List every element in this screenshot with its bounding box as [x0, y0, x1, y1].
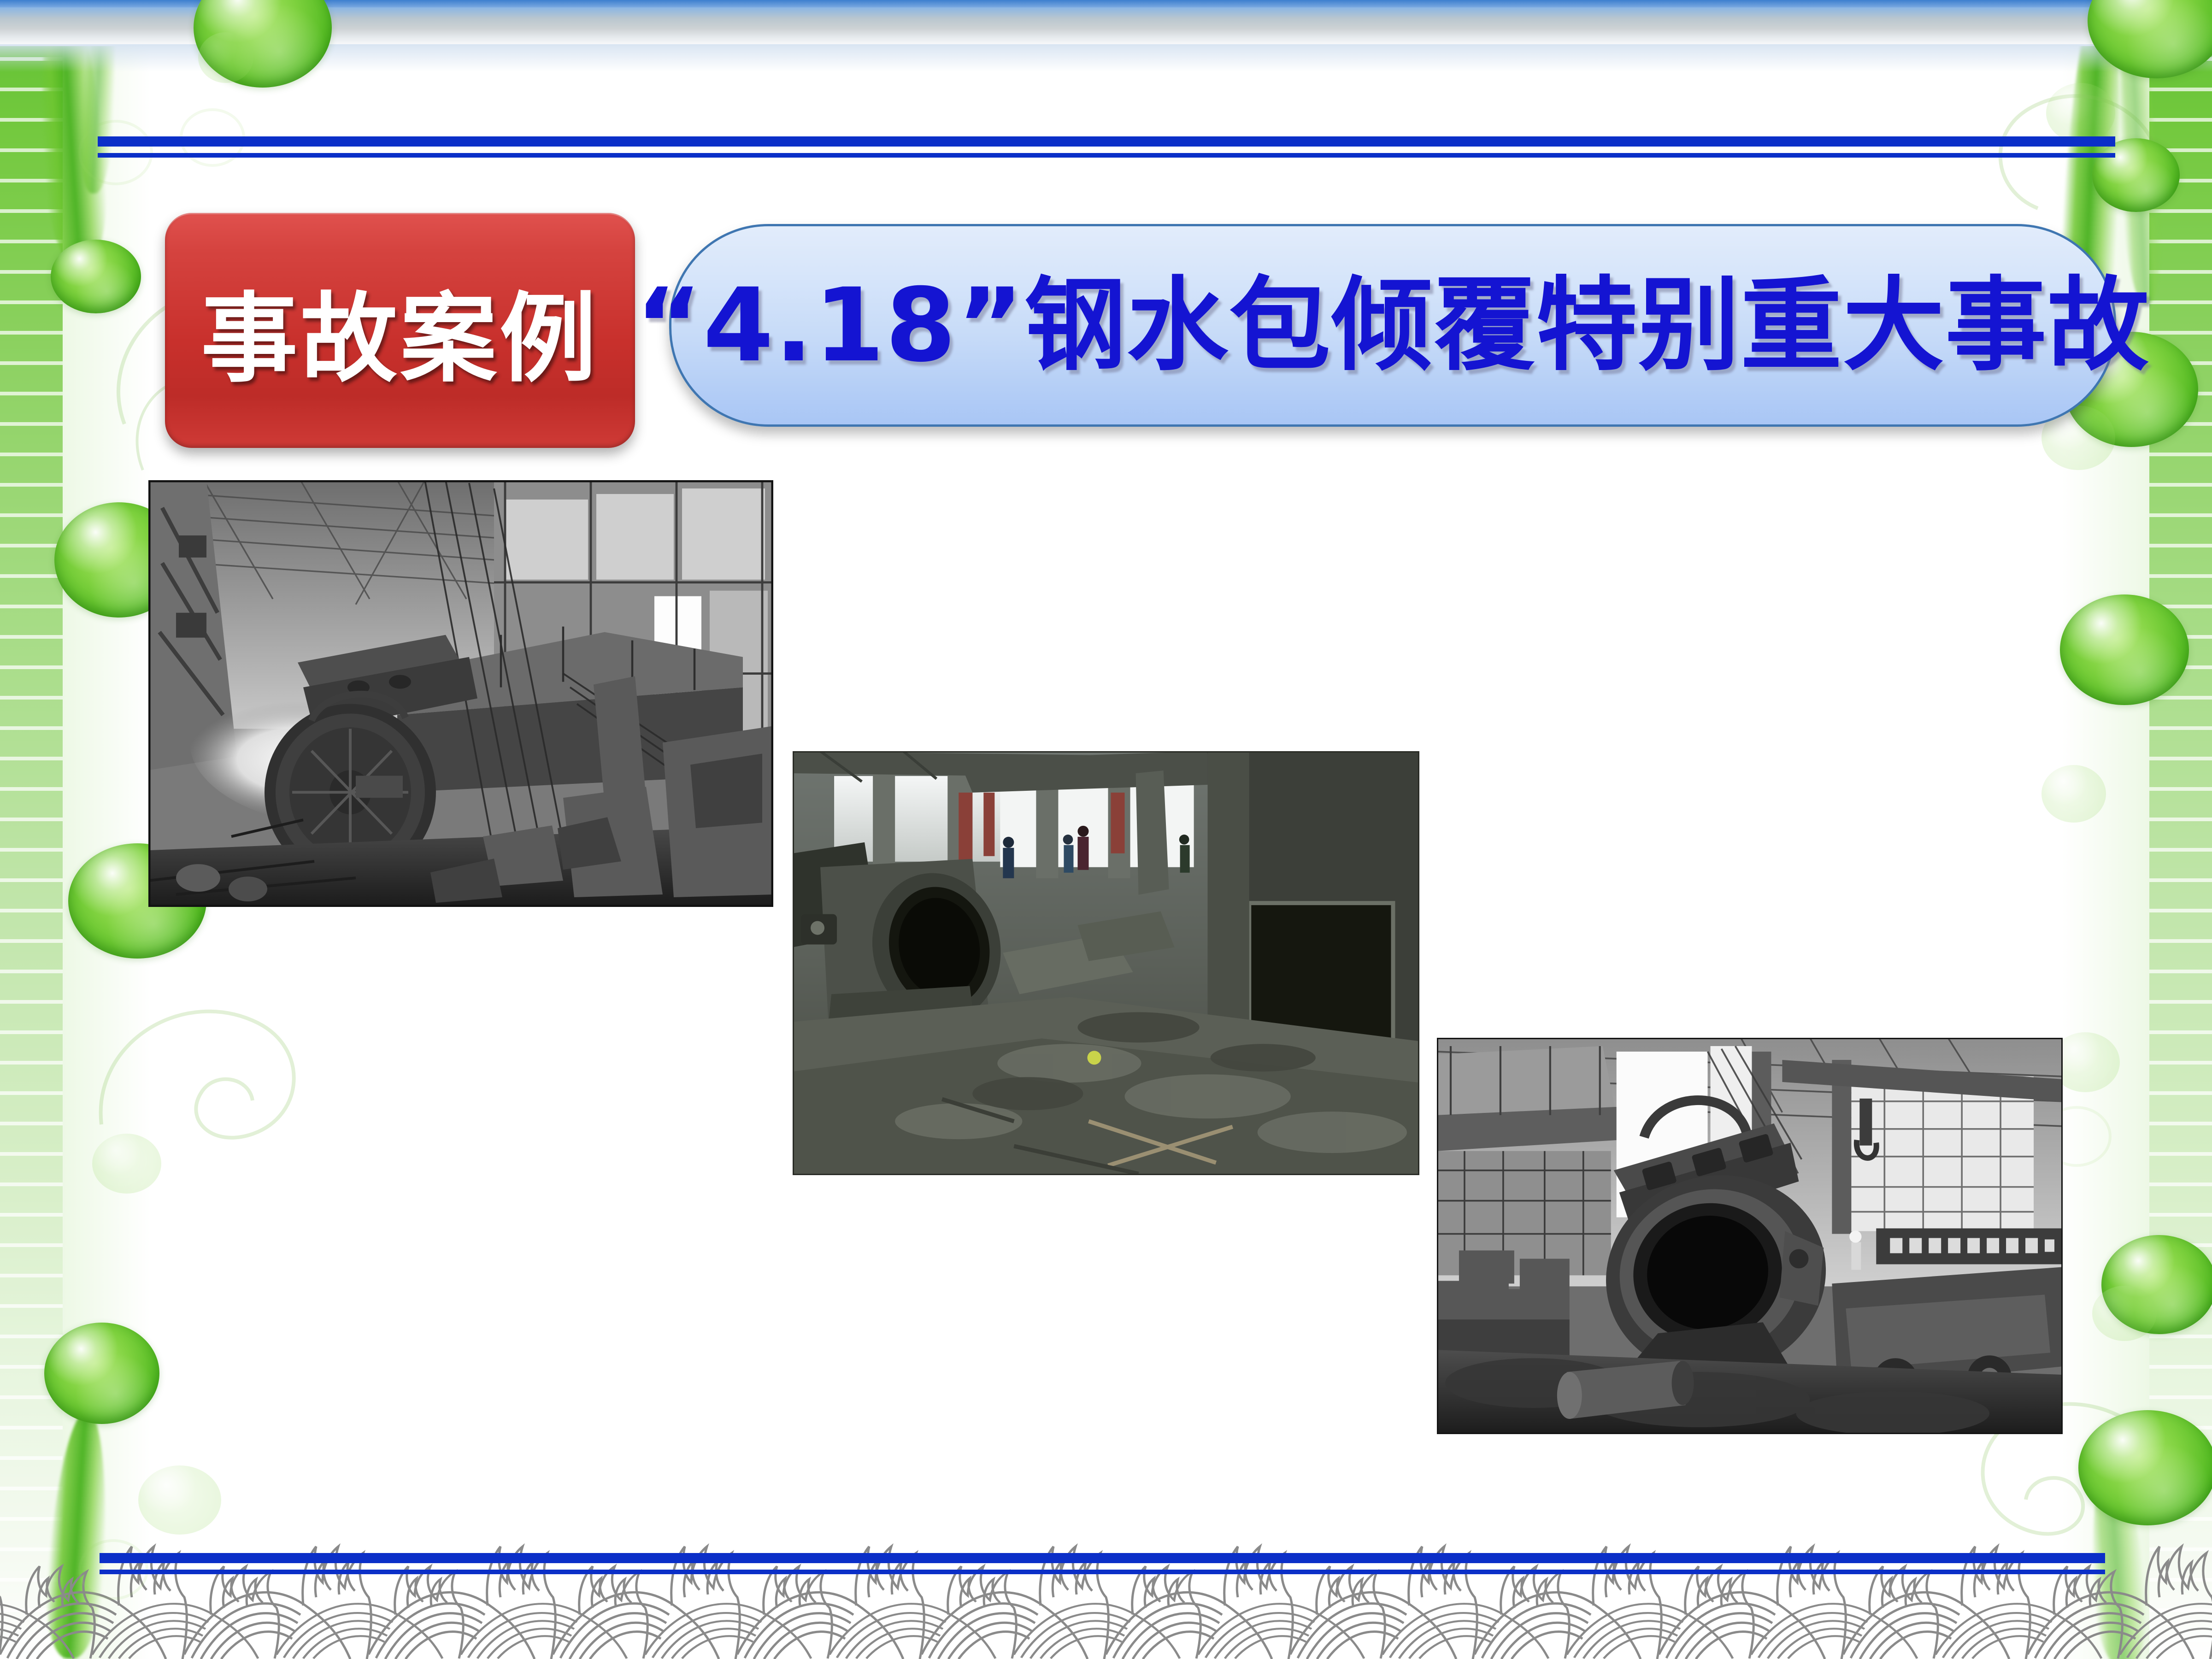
left-green-strip [0, 0, 63, 1659]
right-green-strip [2149, 0, 2212, 1659]
accident-case-badge-label: 事故案例 [201, 260, 599, 400]
green-bubble-icon [51, 240, 141, 313]
green-bubble-icon [2092, 1286, 2157, 1341]
green-bubble-icon [2041, 765, 2106, 823]
accident-case-badge[interactable]: 事故案例 [165, 213, 635, 448]
top-band-fade [0, 44, 2212, 72]
wave-pattern-ornament [0, 1502, 2212, 1659]
green-bubble-icon [138, 1465, 221, 1535]
top-gradient-band [0, 0, 2212, 46]
green-bubble-icon [2046, 83, 2115, 143]
page-title: “4.18”钢水包倾覆特别重大事故 [635, 275, 2150, 376]
photo-ladle-tipped-with-banner [1437, 1038, 2063, 1434]
left-green-glow [63, 0, 150, 1659]
slide-canvas: 事故案例 “4.18”钢水包倾覆特别重大事故 [0, 0, 2212, 1659]
top-divider-rule [98, 136, 2115, 158]
photo-accident-aftermath-debris [793, 751, 1419, 1175]
green-bubble-icon [92, 1134, 161, 1194]
photo-ladle-overturned-workshop [148, 480, 773, 907]
slide-title-banner[interactable]: “4.18”钢水包倾覆特别重大事故 [669, 224, 2116, 427]
swirl-ornament-icon [74, 959, 332, 1198]
bottom-divider-rule [100, 1553, 2105, 1574]
